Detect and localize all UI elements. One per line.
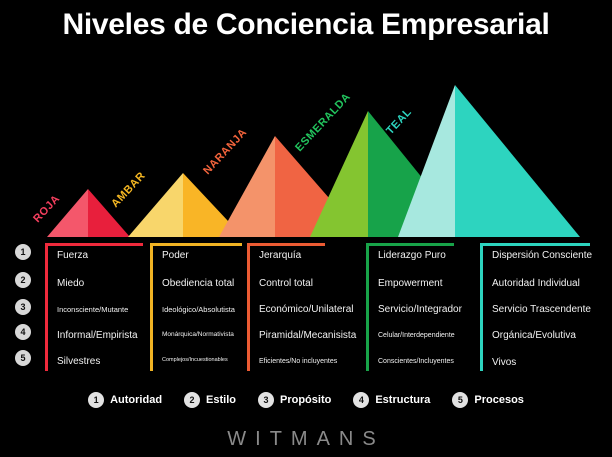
- page-title: Niveles de Conciencia Empresarial: [0, 8, 612, 42]
- legend-number: 5: [452, 392, 468, 408]
- list-item: Ideológico/Absolutista: [162, 306, 235, 314]
- legend-label: Autoridad: [110, 394, 162, 406]
- list-item: Poder: [162, 251, 189, 261]
- mountain-svg: [0, 85, 612, 238]
- row-number-4: 4: [15, 324, 31, 340]
- legend-label: Estructura: [375, 394, 430, 406]
- list-item: Autoridad Individual: [492, 279, 580, 289]
- row-number-1: 1: [15, 244, 31, 260]
- legend-label: Procesos: [474, 394, 524, 406]
- row-number-column: 1 2 3 4 5: [15, 238, 35, 368]
- list-item: Vivos: [492, 358, 516, 368]
- legend-number: 3: [258, 392, 274, 408]
- row-number-3: 3: [15, 299, 31, 315]
- list-item: Liderazgo Puro: [378, 251, 446, 261]
- list-item: Económico/Unilateral: [259, 305, 354, 315]
- mountain-teal-right: [455, 85, 580, 237]
- list-item: Inconsciente/Mutante: [57, 306, 128, 314]
- list-item: Orgánica/Evolutiva: [492, 331, 576, 341]
- legend-item-estilo: 2 Estilo: [184, 392, 236, 408]
- list-item: Empowerment: [378, 279, 442, 289]
- legend: 1 Autoridad 2 Estilo 3 Propósito 4 Estru…: [0, 392, 612, 408]
- list-item: Silvestres: [57, 357, 100, 367]
- level-column-esmeralda: Liderazgo Puro Empowerment Servicio/Inte…: [366, 243, 478, 371]
- mountain-range: ROJA AMBAR NARANJA ESMERALDA TEAL: [0, 85, 612, 238]
- legend-item-estructura: 4 Estructura: [353, 392, 430, 408]
- levels-table: 1 2 3 4 5 Fuerza Miedo Inconsciente/Muta…: [0, 238, 612, 378]
- row-number-5: 5: [15, 350, 31, 366]
- list-item: Monárquica/Normativista: [162, 332, 234, 339]
- list-item: Conscientes/Incluyentes: [378, 358, 454, 365]
- legend-number: 1: [88, 392, 104, 408]
- list-item: Complejos/Incuestionables: [162, 358, 228, 364]
- level-column-roja: Fuerza Miedo Inconsciente/Mutante Inform…: [45, 243, 150, 371]
- list-item: Informal/Empirista: [57, 331, 138, 341]
- level-column-ambar: Poder Obediencia total Ideológico/Absolu…: [150, 243, 250, 371]
- legend-number: 4: [353, 392, 369, 408]
- list-item: Control total: [259, 279, 313, 289]
- list-item: Servicio/Integrador: [378, 305, 462, 315]
- level-column-teal: Dispersión Consciente Autoridad Individu…: [480, 243, 605, 371]
- list-item: Servicio Trascendente: [492, 305, 591, 315]
- legend-item-proposito: 3 Propósito: [258, 392, 331, 408]
- list-item: Piramidal/Mecanisista: [259, 331, 356, 341]
- list-item: Celular/Interdependiente: [378, 332, 455, 339]
- list-item: Obediencia total: [162, 279, 234, 289]
- list-item: Dispersión Consciente: [492, 251, 592, 261]
- list-item: Eficientes/No incluyentes: [259, 358, 337, 365]
- list-item: Jerarquía: [259, 251, 301, 261]
- legend-label: Propósito: [280, 394, 331, 406]
- infographic-page: Niveles de Conciencia Empresarial ROJA A…: [0, 0, 612, 457]
- list-item: Fuerza: [57, 251, 88, 261]
- row-number-2: 2: [15, 272, 31, 288]
- legend-label: Estilo: [206, 394, 236, 406]
- level-column-naranja: Jerarquía Control total Económico/Unilat…: [247, 243, 359, 371]
- legend-number: 2: [184, 392, 200, 408]
- legend-item-autoridad: 1 Autoridad: [88, 392, 162, 408]
- legend-item-procesos: 5 Procesos: [452, 392, 524, 408]
- list-item: Miedo: [57, 279, 84, 289]
- brand-footer: WITMANS: [0, 428, 612, 451]
